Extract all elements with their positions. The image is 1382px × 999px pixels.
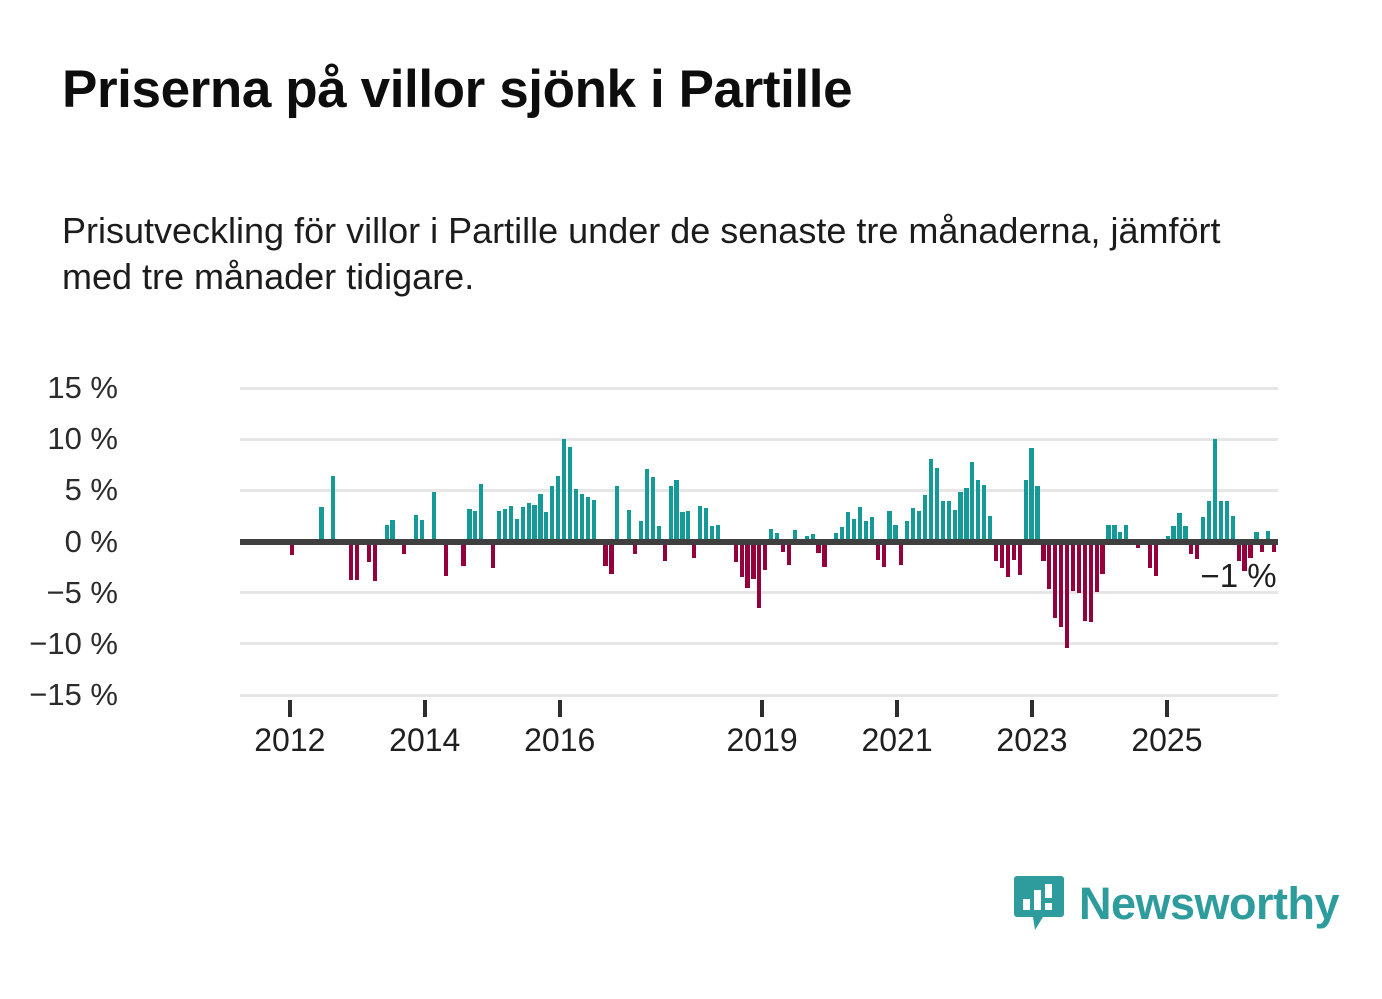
bar	[964, 488, 968, 541]
x-axis-tick-label: 2023	[996, 722, 1067, 759]
y-axis-tick-label: 10 %	[0, 421, 118, 457]
bar	[1100, 542, 1104, 575]
x-axis-tick-label: 2012	[254, 722, 325, 759]
bar	[532, 505, 536, 542]
plot-area: 15 %10 %5 %0 %−5 %−10 %−15 %201220142016…	[240, 388, 1278, 695]
bar	[432, 492, 436, 541]
bar	[680, 512, 684, 542]
bar	[373, 542, 377, 582]
bar	[467, 509, 471, 542]
bar	[603, 542, 607, 567]
bar	[574, 489, 578, 541]
bar	[331, 476, 335, 541]
x-axis-tick	[1165, 700, 1169, 717]
bar	[929, 459, 933, 542]
x-axis-tick	[895, 700, 899, 717]
bar	[1207, 501, 1211, 542]
newsworthy-logo: Newsworthy	[1013, 874, 1339, 932]
y-axis-tick-label: 5 %	[0, 472, 118, 508]
x-axis-tick	[1030, 700, 1034, 717]
bar	[846, 512, 850, 542]
bar	[958, 492, 962, 541]
bar	[1035, 486, 1039, 541]
bar	[319, 507, 323, 542]
bar	[953, 510, 957, 542]
bar	[686, 511, 690, 542]
x-axis-tick-label: 2025	[1131, 722, 1202, 759]
x-axis-tick	[423, 700, 427, 717]
bar	[887, 511, 891, 542]
bar	[473, 511, 477, 542]
bar	[627, 510, 631, 542]
bar	[1148, 542, 1152, 569]
bar	[822, 542, 826, 568]
bar	[491, 542, 495, 569]
bar	[651, 477, 655, 541]
bar	[669, 486, 673, 541]
bar	[1053, 542, 1057, 619]
bar	[568, 447, 572, 541]
y-axis-tick-label: 15 %	[0, 370, 118, 406]
bar	[1018, 542, 1022, 576]
bar	[521, 507, 525, 542]
bar	[1071, 542, 1075, 591]
x-axis-tick-label: 2019	[727, 722, 798, 759]
bar	[1029, 448, 1033, 541]
bar	[1083, 542, 1087, 622]
bar	[787, 542, 791, 566]
bar	[562, 439, 566, 541]
bar	[941, 501, 945, 542]
x-axis-tick	[558, 700, 562, 717]
bar	[609, 542, 613, 575]
bar	[1219, 501, 1223, 542]
y-axis-tick-label: −10 %	[0, 626, 118, 662]
bar	[947, 501, 951, 542]
bar	[615, 486, 619, 541]
bar	[935, 468, 939, 542]
bar	[1047, 542, 1051, 589]
bar	[414, 515, 418, 542]
bar	[580, 494, 584, 541]
bar	[882, 542, 886, 568]
y-axis-tick-label: −5 %	[0, 575, 118, 611]
bar-chart-speech-bubble-icon	[1013, 874, 1065, 932]
bar	[1213, 439, 1217, 541]
bar	[1177, 513, 1181, 542]
bar	[1242, 542, 1246, 572]
bar	[1089, 542, 1093, 623]
x-axis-tick	[288, 700, 292, 717]
bar	[444, 542, 448, 577]
bar-chart: 15 %10 %5 %0 %−5 %−10 %−15 %201220142016…	[0, 0, 1382, 999]
bar	[503, 509, 507, 542]
bar	[550, 486, 554, 541]
bar	[355, 542, 359, 581]
bar	[858, 507, 862, 542]
bar	[917, 511, 921, 542]
bar	[645, 469, 649, 542]
bar	[911, 508, 915, 542]
bar	[586, 497, 590, 541]
bar	[734, 542, 738, 562]
bar	[970, 462, 974, 542]
bar	[544, 512, 548, 542]
x-axis-tick-label: 2014	[389, 722, 460, 759]
bar	[479, 484, 483, 541]
bar	[349, 542, 353, 581]
brand-name: Newsworthy	[1079, 881, 1339, 926]
bar	[556, 476, 560, 541]
bar	[1095, 542, 1099, 592]
bar	[899, 542, 903, 566]
bar	[757, 542, 761, 609]
bar	[923, 495, 927, 541]
bar	[763, 542, 767, 571]
bar	[698, 506, 702, 542]
x-axis-tick-label: 2021	[861, 722, 932, 759]
bar	[745, 542, 749, 588]
x-axis-tick-label: 2016	[524, 722, 595, 759]
bar	[674, 480, 678, 541]
chart-page: Priserna på villor sjönk i Partille Pris…	[0, 0, 1382, 999]
bar	[982, 485, 986, 541]
bar	[751, 542, 755, 580]
bar	[704, 508, 708, 542]
bar	[509, 506, 513, 542]
bar	[1059, 542, 1063, 628]
bar	[367, 542, 371, 562]
bar	[1065, 542, 1069, 648]
bar	[527, 503, 531, 542]
bar	[538, 494, 542, 541]
x-axis-tick	[760, 700, 764, 717]
bar	[497, 511, 501, 542]
bar	[1154, 542, 1158, 577]
bar	[976, 480, 980, 541]
bar	[592, 500, 596, 542]
zero-axis-line	[240, 539, 1278, 545]
y-axis-tick-label: 0 %	[0, 524, 118, 560]
bar	[1006, 542, 1010, 578]
y-axis-tick-label: −15 %	[0, 677, 118, 713]
bar	[1077, 542, 1081, 593]
bar	[1024, 480, 1028, 541]
bar	[461, 542, 465, 567]
bar	[740, 542, 744, 578]
bar	[1225, 501, 1229, 542]
bar	[1000, 542, 1004, 569]
